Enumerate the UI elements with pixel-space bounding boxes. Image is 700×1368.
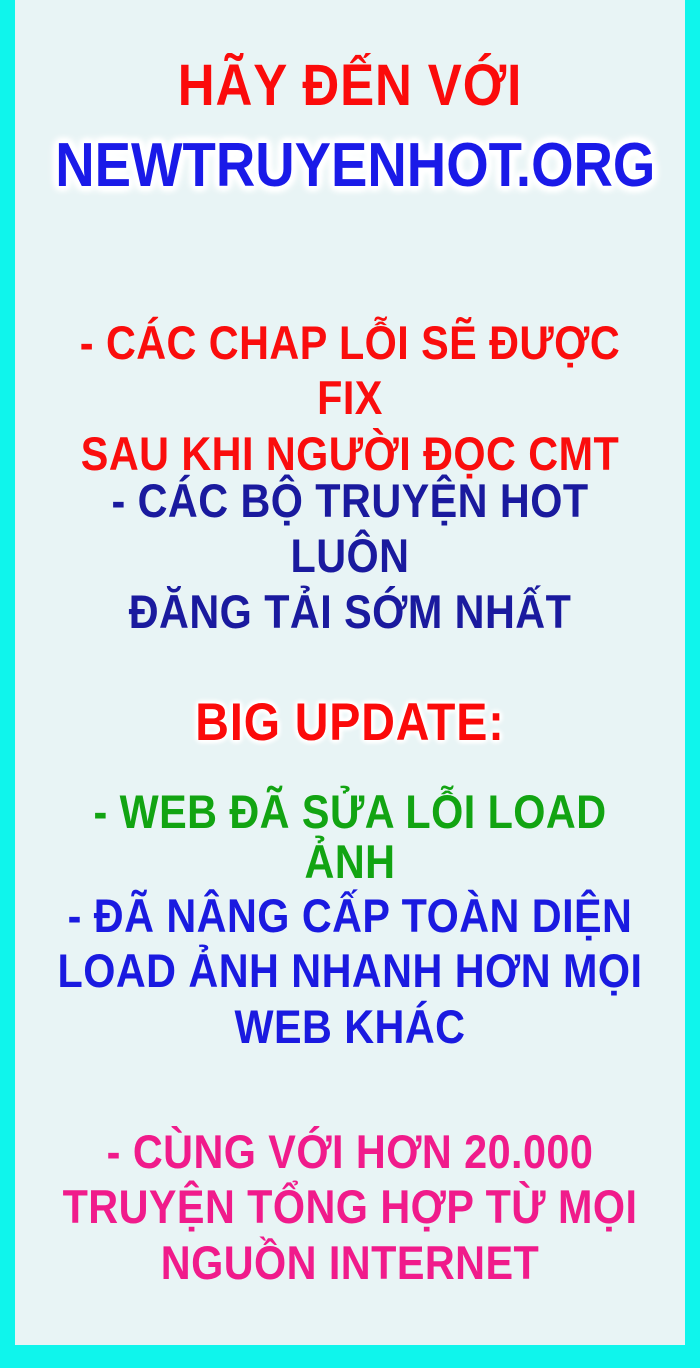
poster-content-area: HÃY ĐẾN VỚI NEWTRUYENHOT.ORG - CÁC CHAP … bbox=[15, 0, 685, 1345]
headline-invitation: HÃY ĐẾN VỚI bbox=[55, 55, 645, 116]
notice-hot-series: - CÁC BỘ TRUYỆN HOT LUÔN ĐĂNG TẢI SỚM NH… bbox=[55, 473, 645, 639]
notice-chapter-fix: - CÁC CHAP LỖI SẼ ĐƯỢC FIX SAU KHI NGƯỜI… bbox=[55, 315, 645, 481]
update-story-count: - CÙNG VỚI HƠN 20.000 TRUYỆN TỔNG HỢP TỪ… bbox=[55, 1124, 645, 1290]
update-full-upgrade: - ĐÃ NÂNG CẤP TOÀN DIỆN LOAD ẢNH NHANH H… bbox=[55, 888, 645, 1054]
update-image-load-fix: - WEB ĐÃ SỬA LỖI LOAD ẢNH bbox=[55, 787, 645, 887]
site-url-heading[interactable]: NEWTRUYENHOT.ORG bbox=[55, 133, 645, 199]
bottom-cyan-border bbox=[0, 1345, 700, 1368]
promo-poster: HÃY ĐẾN VỚI NEWTRUYENHOT.ORG - CÁC CHAP … bbox=[0, 0, 700, 1368]
left-cyan-border bbox=[0, 0, 15, 1368]
big-update-heading: BIG UPDATE: bbox=[55, 695, 645, 751]
right-cyan-border bbox=[685, 0, 700, 1368]
